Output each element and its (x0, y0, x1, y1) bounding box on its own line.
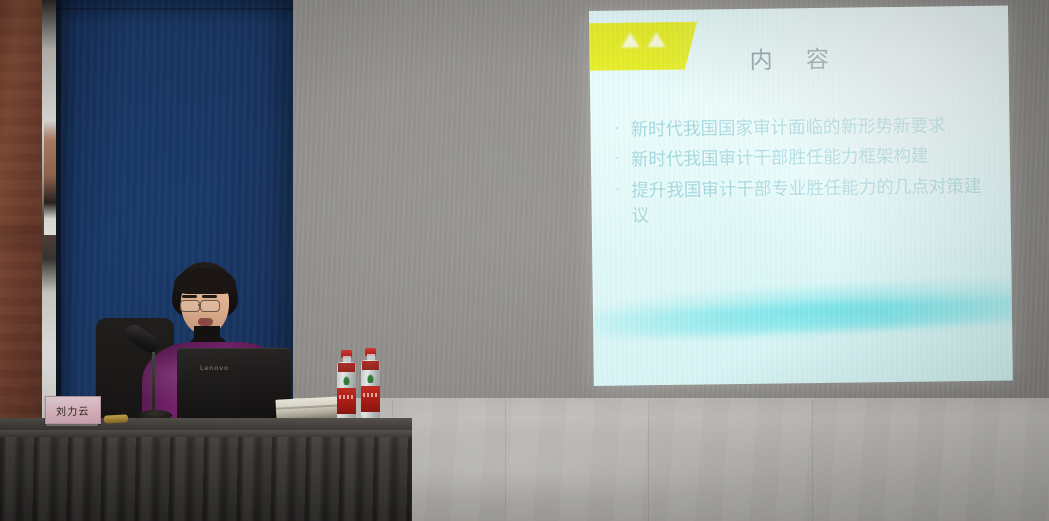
presenter-eyebrow (182, 295, 197, 298)
slide-bullet-text: 新时代我国国家审计面临的新形势新要求 (630, 114, 995, 144)
bottle-shoulder-label (338, 363, 355, 372)
fabric-fold (812, 400, 813, 521)
fabric-fold (648, 400, 649, 521)
laptop-brand-label: Lenovo (200, 364, 229, 371)
nameplate: 刘力云 (45, 396, 101, 424)
backdrop-seam (56, 8, 293, 10)
glasses-icon (200, 300, 220, 312)
quote-mark-icon (621, 32, 639, 47)
glasses-bridge (198, 304, 201, 306)
presenter-fringe (174, 268, 236, 294)
bottle-label (361, 386, 380, 412)
bullet-marker-icon: · (614, 118, 630, 140)
slide-title: 内 容 (749, 40, 842, 75)
fabric-fold (505, 400, 506, 521)
table-skirt-hem (0, 430, 412, 437)
bottle-logo-icon (367, 374, 374, 383)
presenter-mouth (198, 318, 213, 326)
brown-pillar (0, 0, 42, 418)
slide-bullet-list: · 新时代我国国家审计面临的新形势新要求 · 新时代我国审计干部胜任能力框架构建… (614, 114, 996, 235)
projection-screen: 内 容 · 新时代我国国家审计面临的新形势新要求 · 新时代我国审计干部胜任能力… (589, 6, 1013, 386)
slide-surface: 内 容 · 新时代我国国家审计面临的新形势新要求 · 新时代我国审计干部胜任能力… (589, 6, 1013, 386)
bottle-label (337, 388, 356, 414)
bottle-shoulder-label (362, 361, 379, 370)
glasses-icon (180, 300, 200, 312)
quote-block-decoration (589, 22, 698, 71)
presenter-eyebrow (202, 295, 217, 298)
bottle-logo-icon (343, 376, 350, 385)
water-bottle (361, 348, 380, 420)
slide-bullet-text: 新时代我国审计干部胜任能力框架构建 (631, 144, 996, 174)
slide-bullet-item: · 新时代我国审计干部胜任能力框架构建 (615, 144, 996, 174)
slide-bullet-item: · 提升我国审计干部专业胜任能力的几点对策建议 (615, 174, 997, 230)
nameplate-text: 刘力云 (56, 402, 90, 418)
presentation-photo-scene: 内 容 · 新时代我国国家审计面临的新形势新要求 · 新时代我国审计干部胜任能力… (0, 0, 1049, 521)
backdrop-left-edge (56, 0, 61, 418)
slide-bullet-item: · 新时代我国国家审计面临的新形势新要求 (614, 114, 995, 144)
bullet-marker-icon: · (615, 149, 631, 171)
table-skirt (0, 430, 412, 521)
water-bottle (337, 350, 356, 422)
quote-mark-icon (647, 32, 665, 47)
background-person-silhouette (44, 120, 56, 235)
slide-bullet-text: 提升我国审计干部专业胜任能力的几点对策建议 (631, 174, 997, 230)
bullet-marker-icon: · (615, 179, 631, 201)
laptop (177, 348, 291, 423)
brass-desk-object (104, 414, 128, 423)
